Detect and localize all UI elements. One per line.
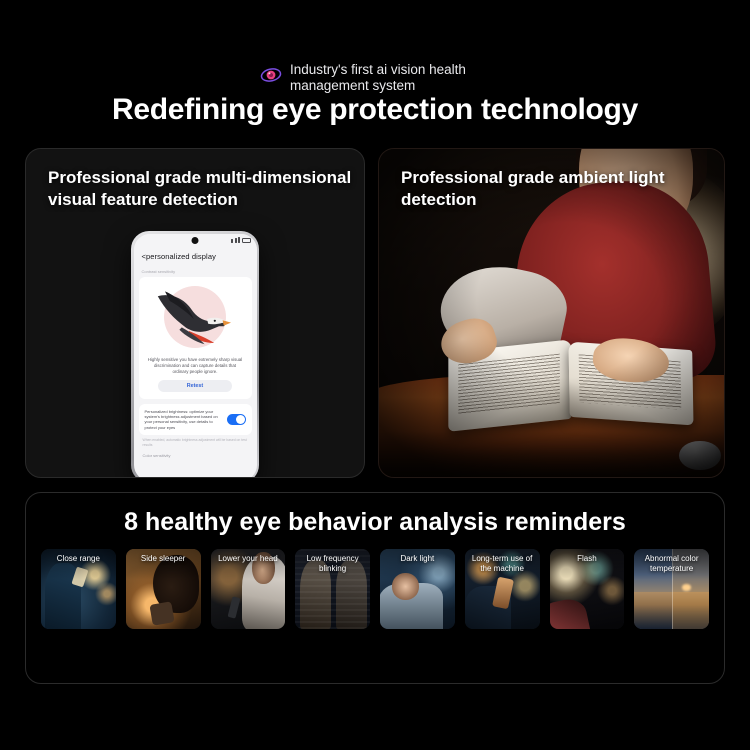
reminder-flash[interactable]: Flash — [550, 549, 625, 629]
front-camera-icon — [192, 237, 199, 244]
bird-illustration — [145, 282, 246, 356]
reminder-abnormal-color-temperature[interactable]: Abnormal color temperature — [634, 549, 709, 629]
signal-bar-icon — [231, 239, 233, 243]
contrast-sensitivity-label: Contrast sensitivity — [134, 267, 257, 277]
signal-bar-icon — [238, 237, 240, 243]
personalized-brightness-row[interactable]: Personalized brightness: optimize your s… — [139, 404, 252, 436]
personalized-brightness-label: Personalized brightness: optimize your s… — [145, 409, 222, 431]
thumb-label: Low frequency blinking — [298, 554, 367, 574]
toggle-knob — [236, 415, 245, 424]
retest-button[interactable]: Retest — [158, 380, 232, 392]
thumb-label: Side sleeper — [129, 554, 198, 564]
reminder-thumbnail-row: Close range Side sleeper Lower your head — [41, 549, 709, 629]
phone-mockup: <personalized display Contrast sensitivi… — [131, 231, 259, 478]
status-icons — [231, 237, 251, 243]
card-ambient-light-detection[interactable]: Professional grade ambient light detecti… — [378, 148, 725, 478]
result-panel: Highly sensitive you have extremely shar… — [139, 277, 252, 399]
personalized-brightness-toggle[interactable] — [227, 414, 246, 425]
thumb-label: Dark light — [383, 554, 452, 564]
page-title: Redefining eye protection technology — [0, 93, 750, 127]
result-text: Highly sensitive you have extremely shar… — [145, 357, 246, 375]
card-left-title: Professional grade multi-dimensional vis… — [48, 167, 364, 211]
card-right-title: Professional grade ambient light detecti… — [401, 167, 724, 211]
card-behavior-reminders: 8 healthy eye behavior analysis reminder… — [25, 492, 725, 684]
phone-nav-title: <personalized display — [142, 252, 216, 261]
thumb-label: Flash — [553, 554, 622, 564]
promo-page: Industry's first ai vision health manage… — [0, 0, 750, 750]
reminder-dark-light[interactable]: Dark light — [380, 549, 455, 629]
eagle-icon — [147, 283, 243, 355]
bottom-section-title: 8 healthy eye behavior analysis reminder… — [26, 508, 724, 537]
thumb-label: Close range — [44, 554, 113, 564]
status-bar — [134, 234, 257, 247]
signal-bar-icon — [235, 238, 237, 243]
color-sensitivity-label: Color sensitivity — [134, 448, 257, 458]
thumb-label: Lower your head — [214, 554, 283, 564]
phone-screen: <personalized display Contrast sensitivi… — [134, 234, 257, 479]
card-visual-feature-detection[interactable]: Professional grade multi-dimensional vis… — [25, 148, 365, 478]
phone-nav-bar[interactable]: <personalized display — [134, 247, 257, 267]
toggle-footnote: When enabled, automatic brightness adjus… — [134, 435, 257, 448]
reminder-long-term-use[interactable]: Long-term use of the machine — [465, 549, 540, 629]
reminder-lower-your-head[interactable]: Lower your head — [211, 549, 286, 629]
reminder-close-range[interactable]: Close range — [41, 549, 116, 629]
eyebrow: Industry's first ai vision health manage… — [0, 62, 750, 94]
reminder-low-frequency-blinking[interactable]: Low frequency blinking — [295, 549, 370, 629]
eye-icon — [260, 64, 282, 86]
eyebrow-text: Industry's first ai vision health manage… — [290, 62, 490, 94]
thumb-label: Abnormal color temperature — [637, 554, 706, 574]
reminder-side-sleeper[interactable]: Side sleeper — [126, 549, 201, 629]
battery-icon — [242, 238, 251, 243]
thumb-label: Long-term use of the machine — [468, 554, 537, 574]
